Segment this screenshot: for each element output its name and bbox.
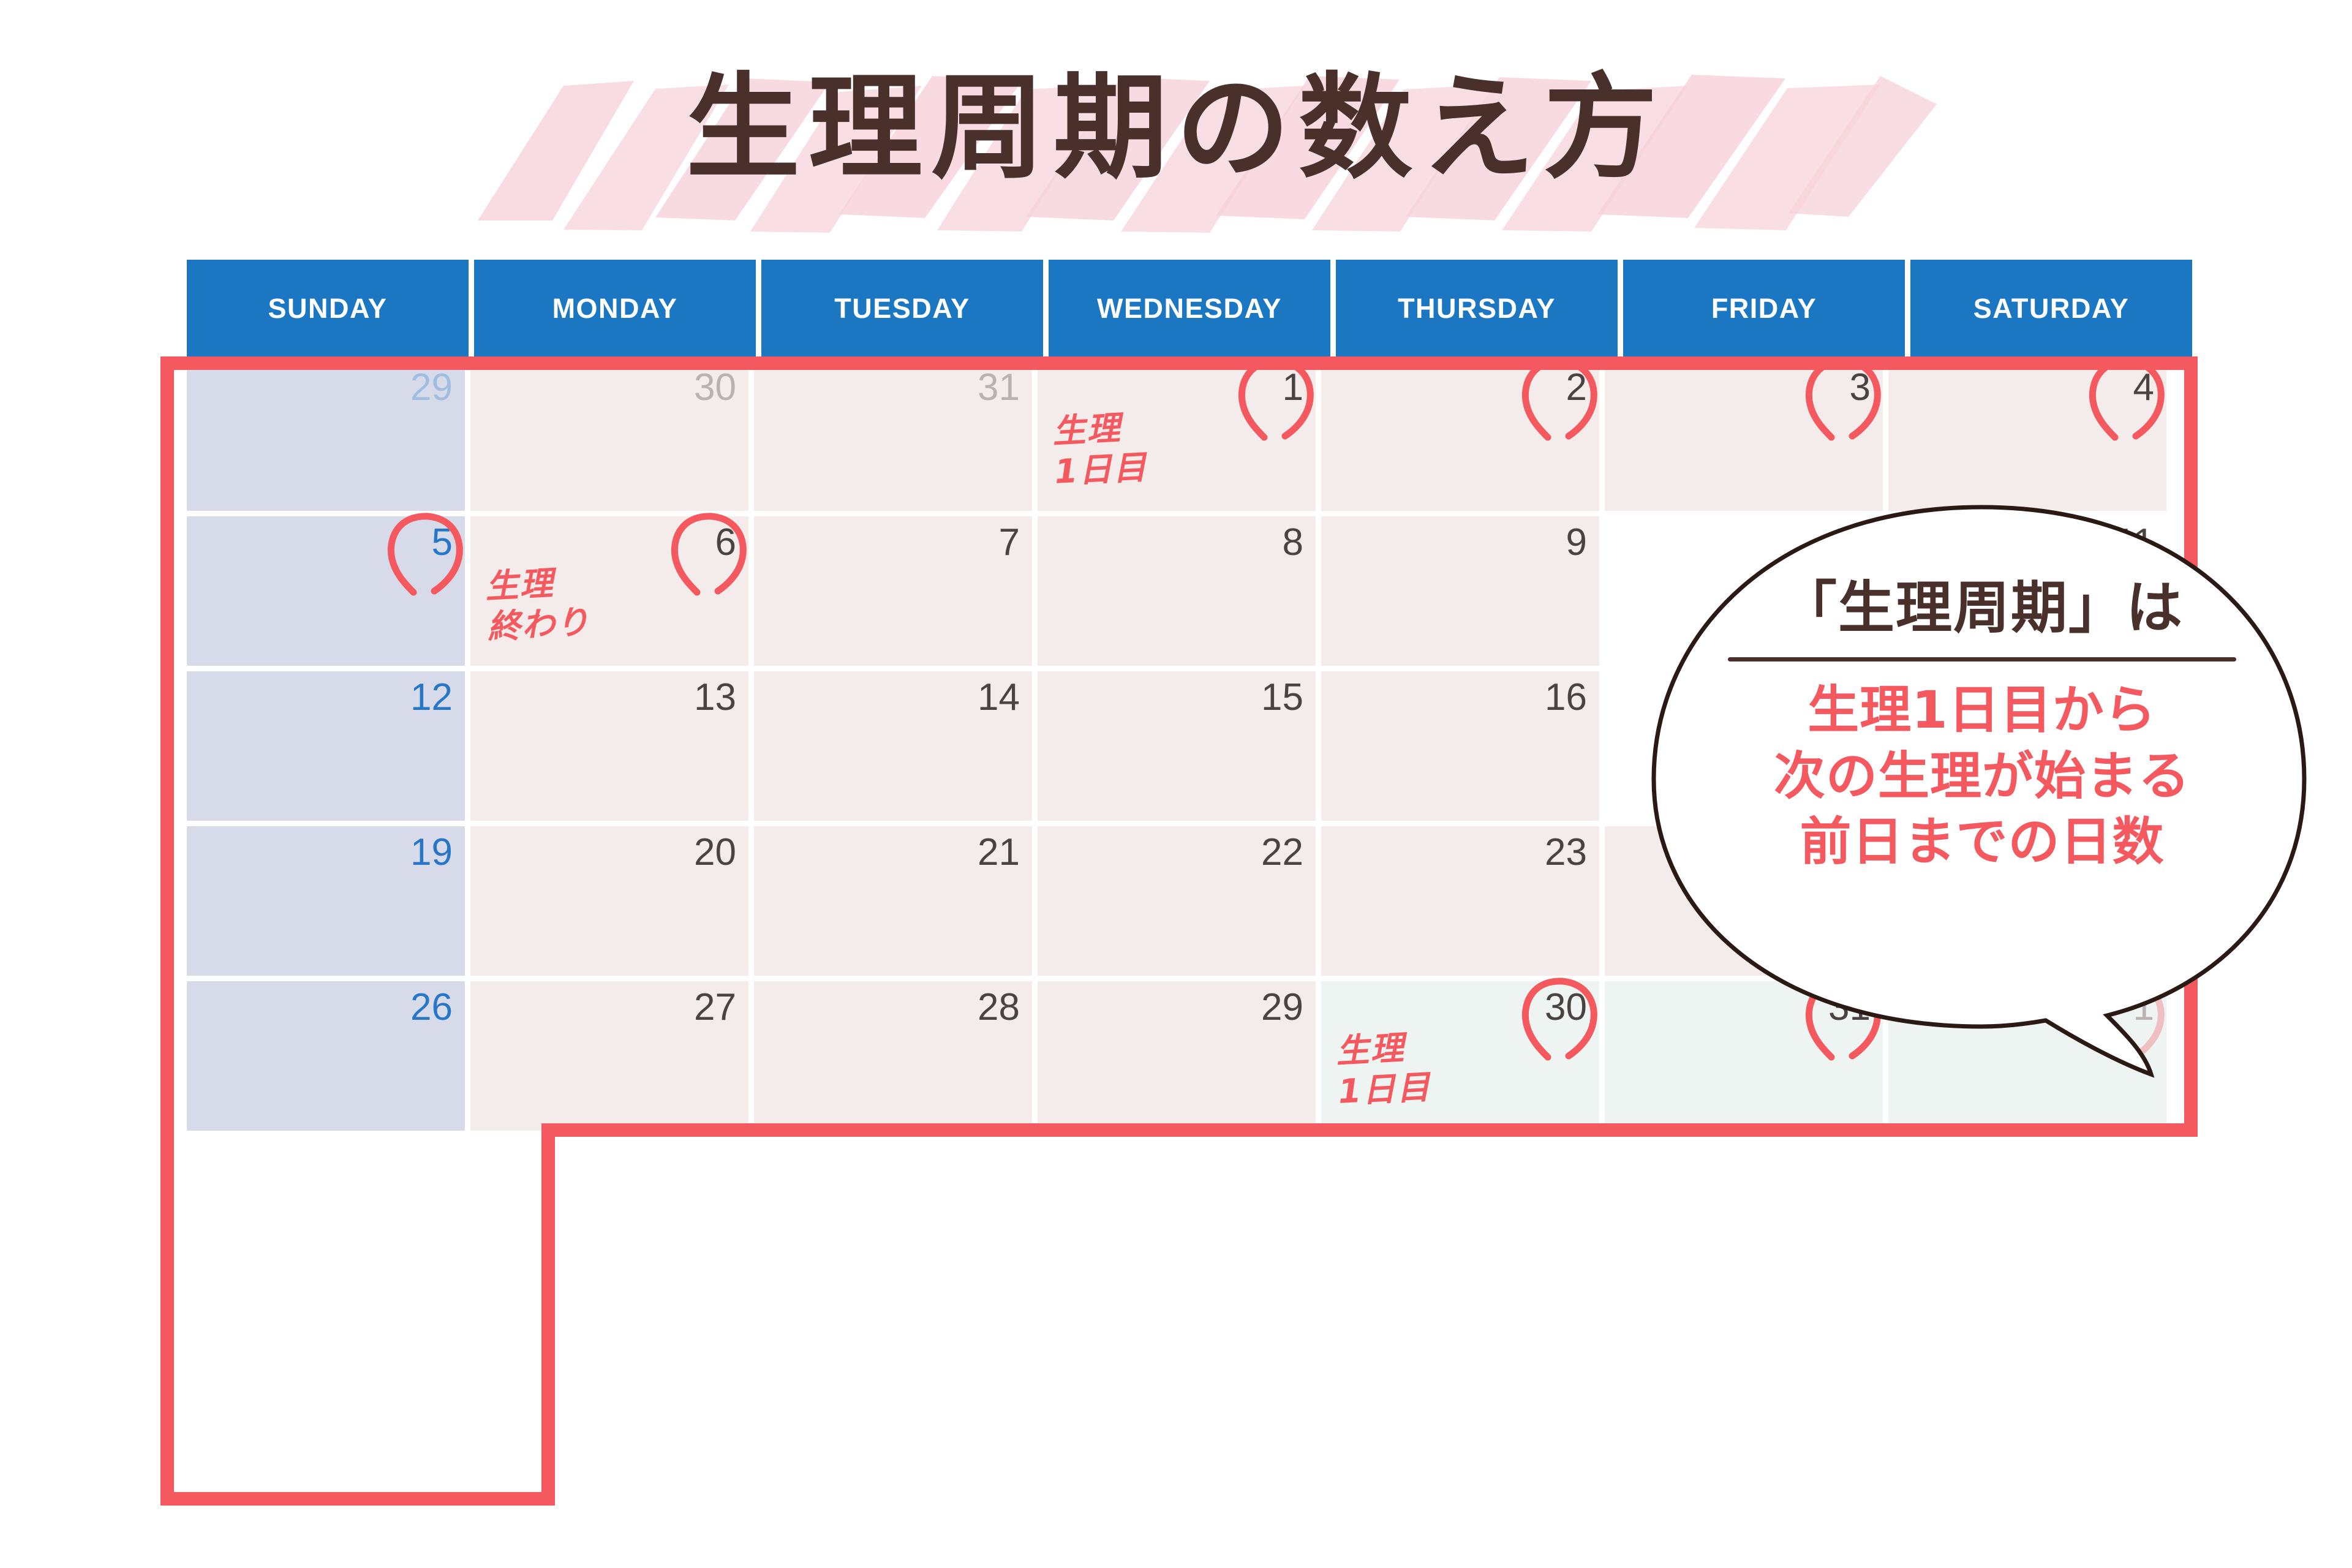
day-number: 2: [1566, 369, 1587, 407]
day-number: 6: [715, 524, 736, 562]
day-number: 26: [410, 989, 453, 1027]
dow-wednesday: WEDNESDAY: [1049, 260, 1330, 358]
dow-friday: FRIDAY: [1623, 260, 1905, 358]
infographic-canvas: 生理周期の数え方 SUNDAY MONDAY TUESDAY WEDNESDAY…: [0, 0, 2352, 1568]
calendar-day-cell-wednesday-15[interactable]: 15: [1038, 671, 1316, 821]
calendar-day-cell-monday-13[interactable]: 13: [470, 671, 748, 821]
day-number: 3: [1850, 369, 1871, 407]
calendar-header-row: SUNDAY MONDAY TUESDAY WEDNESDAY THURSDAY…: [187, 260, 2192, 358]
day-number: 31: [978, 369, 1020, 407]
calendar-day-cell-sunday-5[interactable]: 5: [187, 516, 465, 666]
calendar-day-cell-sunday-29[interactable]: 29: [187, 361, 465, 511]
calendar-day-cell-monday-6[interactable]: 6生理 終わり: [470, 516, 748, 666]
calendar-day-cell-wednesday-29[interactable]: 29: [1038, 981, 1316, 1131]
day-number: 22: [1261, 834, 1303, 872]
calendar-day-cell-sunday-26[interactable]: 26: [187, 981, 465, 1131]
explanation-speech-bubble: 「生理周期」は 生理1日目から 次の生理が始まる 前日までの日数: [1617, 502, 2346, 1090]
calendar-day-cell-sunday-19[interactable]: 19: [187, 826, 465, 976]
calendar-day-cell-tuesday-28[interactable]: 28: [754, 981, 1032, 1131]
day-number: 23: [1545, 834, 1587, 872]
calendar-day-cell-thursday-23[interactable]: 23: [1321, 826, 1599, 976]
calendar-day-cell-thursday-30[interactable]: 30生理 1日目: [1321, 981, 1599, 1131]
day-number: 5: [432, 524, 453, 562]
day-number: 1: [1283, 369, 1303, 407]
calendar-day-cell-monday-30[interactable]: 30: [470, 361, 748, 511]
handwritten-annotation: 生理 1日目: [1335, 1027, 1432, 1112]
dow-monday: MONDAY: [474, 260, 756, 358]
dow-saturday: SATURDAY: [1910, 260, 2192, 358]
day-number: 15: [1261, 679, 1303, 717]
bubble-divider: [1728, 657, 2236, 661]
day-number: 29: [410, 369, 453, 407]
page-title: 生理周期の数え方: [0, 71, 2352, 185]
calendar-day-cell-monday-27[interactable]: 27: [470, 981, 748, 1131]
day-number: 13: [694, 679, 736, 717]
title-area: 生理周期の数え方: [0, 24, 2352, 245]
calendar-day-cell-wednesday-1[interactable]: 1生理 1日目: [1038, 361, 1316, 511]
calendar-day-cell-wednesday-22[interactable]: 22: [1038, 826, 1316, 976]
calendar-day-cell-saturday-4[interactable]: 4: [1888, 361, 2166, 511]
day-number: 28: [978, 989, 1020, 1027]
day-number: 30: [1545, 989, 1587, 1027]
calendar-day-cell-thursday-9[interactable]: 9: [1321, 516, 1599, 666]
day-number: 19: [410, 834, 453, 872]
calendar-day-cell-wednesday-8[interactable]: 8: [1038, 516, 1316, 666]
calendar-day-cell-tuesday-21[interactable]: 21: [754, 826, 1032, 976]
day-number: 16: [1545, 679, 1587, 717]
day-number: 20: [694, 834, 736, 872]
calendar-day-cell-tuesday-14[interactable]: 14: [754, 671, 1032, 821]
calendar-day-cell-thursday-16[interactable]: 16: [1321, 671, 1599, 821]
speech-bubble-content: 「生理周期」は 生理1日目から 次の生理が始まる 前日までの日数: [1676, 577, 2288, 875]
day-number: 9: [1566, 524, 1587, 562]
day-number: 4: [2133, 369, 2154, 407]
day-number: 27: [694, 989, 736, 1027]
calendar-day-cell-friday-3[interactable]: 3: [1605, 361, 1883, 511]
calendar-day-cell-sunday-12[interactable]: 12: [187, 671, 465, 821]
calendar-day-cell-tuesday-7[interactable]: 7: [754, 516, 1032, 666]
calendar-day-cell-monday-20[interactable]: 20: [470, 826, 748, 976]
bubble-heading: 「生理周期」は: [1676, 577, 2288, 639]
dow-sunday: SUNDAY: [187, 260, 469, 358]
day-number: 30: [694, 369, 736, 407]
handwritten-annotation: 生理 1日目: [1052, 407, 1148, 492]
dow-tuesday: TUESDAY: [761, 260, 1043, 358]
day-number: 29: [1261, 989, 1303, 1027]
calendar: SUNDAY MONDAY TUESDAY WEDNESDAY THURSDAY…: [187, 260, 2192, 358]
calendar-day-cell-thursday-2[interactable]: 2: [1321, 361, 1599, 511]
calendar-day-cell-tuesday-31[interactable]: 31: [754, 361, 1032, 511]
day-number: 21: [978, 834, 1020, 872]
handwritten-annotation: 生理 終わり: [484, 562, 592, 647]
dow-thursday: THURSDAY: [1336, 260, 1618, 358]
day-number: 7: [999, 524, 1020, 562]
day-number: 12: [410, 679, 453, 717]
day-number: 14: [978, 679, 1020, 717]
bubble-body-text: 生理1日目から 次の生理が始まる 前日までの日数: [1676, 677, 2288, 875]
day-number: 8: [1283, 524, 1303, 562]
calendar-week-row: 2930311生理 1日目234: [167, 361, 2187, 511]
